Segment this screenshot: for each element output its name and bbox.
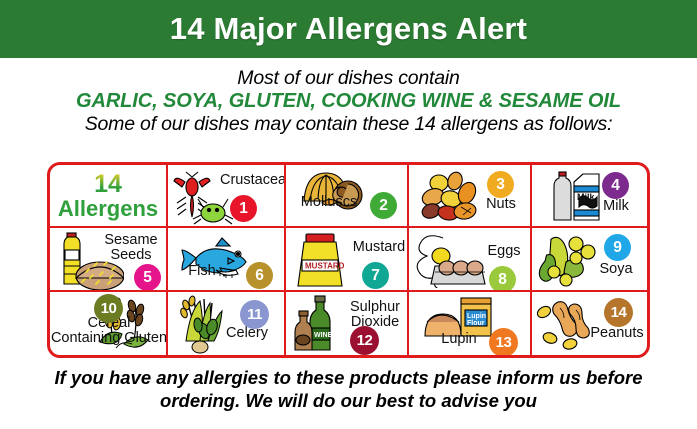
peanuts-icon: [534, 298, 598, 352]
allergen-label: Sulphur Dioxide: [342, 300, 408, 330]
allergen-badge: 13: [489, 328, 518, 355]
allergen-label: Eggs: [481, 244, 527, 259]
allergen-cell-sulphur-dioxide[interactable]: WINE Sulphur Dioxide 12: [286, 292, 409, 355]
header-banner: 14 Major Allergens Alert: [0, 0, 697, 58]
allergen-label: Sesame Seeds: [96, 233, 166, 263]
allergen-cell-fish[interactable]: Fish 6: [168, 228, 286, 291]
svg-text:Flour: Flour: [467, 320, 485, 327]
allergen-cell-milk[interactable]: Milk Milk 4: [532, 165, 647, 228]
allergen-badge: 5: [134, 264, 161, 291]
allergen-grid: 14 Allergens Crustaceans: [47, 162, 650, 358]
allergen-cell-eggs[interactable]: Eggs 8: [409, 228, 532, 291]
soya-beans-icon: [536, 232, 602, 288]
allergen-badge: 12: [350, 326, 379, 355]
milk-carton-icon: Milk: [546, 168, 608, 226]
grid-title-cell: 14 Allergens: [50, 165, 168, 228]
footer-note: If you have any allergies to these produ…: [0, 366, 697, 412]
allergen-badge: 10: [94, 294, 123, 323]
svg-text:MUSTARD: MUSTARD: [305, 262, 345, 271]
allergen-badge: 3: [487, 171, 514, 198]
footer-line-2: ordering. We will do our best to advise …: [0, 389, 697, 412]
svg-text:Lupin: Lupin: [467, 313, 486, 320]
allergen-label: Crustaceans: [220, 173, 286, 188]
svg-text:WINE: WINE: [314, 332, 333, 339]
allergen-cell-crustaceans[interactable]: Crustaceans 1: [168, 165, 286, 228]
allergen-cell-lupin[interactable]: Lupin Flour Lupin 13: [409, 292, 532, 355]
allergen-badge: 6: [246, 262, 273, 289]
allergen-badge: 4: [602, 172, 629, 199]
allergen-cell-mustard[interactable]: MUSTARD Mustard 7: [286, 228, 409, 291]
allergen-label: Milk: [588, 199, 644, 214]
allergen-cell-nuts[interactable]: Nuts 3: [409, 165, 532, 228]
allergen-cell-peanuts[interactable]: Peanuts 14: [532, 292, 647, 355]
allergen-badge: 7: [362, 262, 389, 289]
allergen-label: Lupin: [431, 332, 487, 347]
allergen-badge: 1: [230, 195, 257, 222]
allergen-badge: 8: [489, 266, 516, 291]
footer-line-1: If you have any allergies to these produ…: [0, 366, 697, 389]
allergen-label: Molluscs: [290, 195, 368, 210]
allergen-cell-soya[interactable]: Soya 9: [532, 228, 647, 291]
allergen-cell-celery[interactable]: Celery 11: [168, 292, 286, 355]
allergen-label: Celery: [216, 326, 278, 341]
allergen-badge: 14: [604, 298, 633, 327]
allergen-label: Nuts: [475, 197, 527, 212]
allergen-label: Fish: [174, 264, 230, 279]
allergen-badge: 2: [370, 192, 397, 219]
allergen-label: Soya: [590, 262, 642, 277]
subtitle-line-3: Some of our dishes may contain these 14 …: [0, 113, 697, 136]
allergen-cell-cereal-gluten[interactable]: Cereal Containing Gluten 10: [50, 292, 168, 355]
subtitle-line-1: Most of our dishes contain: [0, 67, 697, 90]
subtitle-block: Most of our dishes contain GARLIC, SOYA,…: [0, 58, 697, 135]
allergen-badge: 11: [240, 300, 269, 329]
allergen-cell-sesame-seeds[interactable]: Sesame Seeds 5: [50, 228, 168, 291]
eggs-carton-icon: [413, 232, 491, 288]
allergen-label: Mustard: [348, 240, 409, 255]
allergen-count-number: 14: [58, 172, 158, 197]
page-title: 14 Major Allergens Alert: [170, 11, 527, 47]
allergen-count-word: Allergens: [58, 198, 158, 220]
mustard-jar-icon: MUSTARD: [292, 232, 354, 290]
allergen-label: Peanuts: [588, 326, 646, 341]
allergen-cell-molluscs[interactable]: Molluscs 2: [286, 165, 409, 228]
subtitle-line-2-allergen-list: GARLIC, SOYA, GLUTEN, COOKING WINE & SES…: [0, 90, 697, 113]
allergen-badge: 9: [604, 234, 631, 261]
